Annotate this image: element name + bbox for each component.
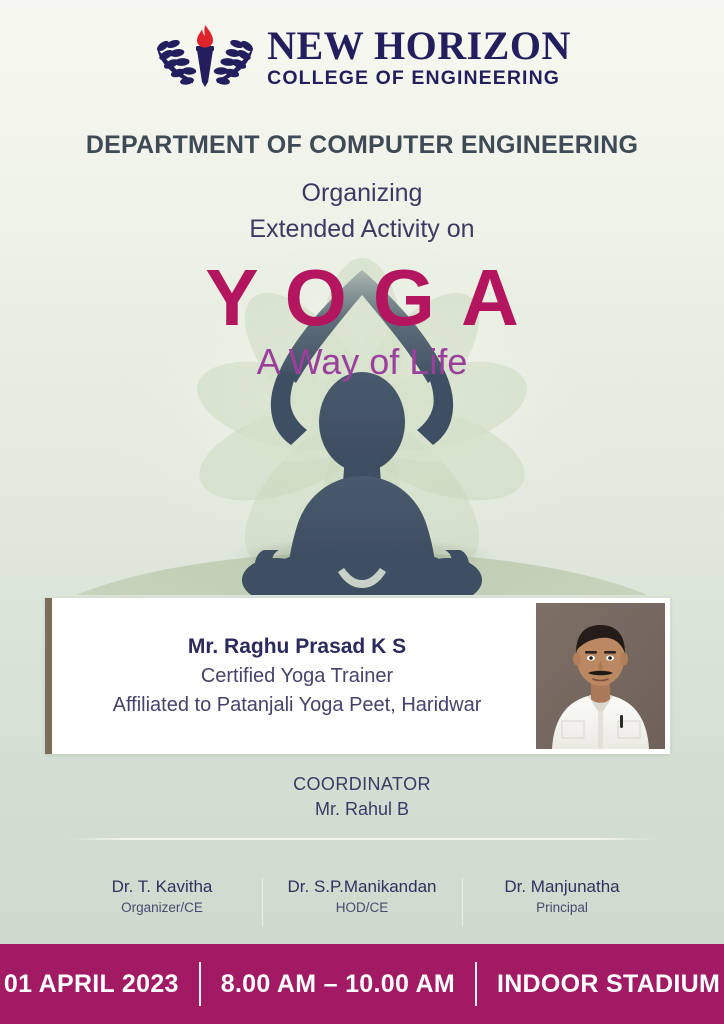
signatory-name: Dr. Manjunatha [468,876,656,899]
event-details-footer: 01 APRIL 2023 8.00 AM – 10.00 AM INDOOR … [0,944,724,1024]
speaker-affiliation: Affiliated to Patanjali Yoga Peet, Harid… [113,691,482,720]
speaker-name: Mr. Raghu Prasad K S [188,632,406,662]
logo-wordmark: NEW HORIZON COLLEGE OF ENGINEERING [267,26,571,89]
logo-line1: NEW HORIZON [267,26,571,66]
signatory-name: Dr. S.P.Manikandan [268,876,456,899]
signatory-role: HOD/CE [268,899,456,917]
department-title: DEPARTMENT OF COMPUTER ENGINEERING [0,131,724,160]
event-title: YOGA [0,258,724,338]
organizing-line2: Extended Activity on [0,212,724,248]
event-poster: NEW HORIZON COLLEGE OF ENGINEERING DEPAR… [0,0,724,1024]
speaker-card: Mr. Raghu Prasad K S Certified Yoga Trai… [45,598,670,754]
event-time: 8.00 AM – 10.00 AM [201,970,475,999]
coordinator-label: COORDINATOR [0,772,724,797]
signatory-organizer: Dr. T. Kavitha Organizer/CE [62,876,262,917]
signatory-principal: Dr. Manjunatha Principal [462,876,662,917]
signatory-hod: Dr. S.P.Manikandan HOD/CE [262,876,462,917]
section-divider [68,838,656,840]
signatory-role: Organizer/CE [68,899,256,917]
coordinator-block: COORDINATOR Mr. Rahul B [0,772,724,822]
torch-laurel-icon [153,24,257,90]
signatory-role: Principal [468,899,656,917]
event-date: 01 APRIL 2023 [0,970,199,999]
event-venue: INDOOR STADIUM [477,970,724,999]
footer-divider [475,962,477,1006]
card-accent-bar [45,598,52,754]
college-logo: NEW HORIZON COLLEGE OF ENGINEERING [0,24,724,90]
logo-line2: COLLEGE OF ENGINEERING [267,69,560,89]
footer-divider [199,962,201,1006]
signatories-row: Dr. T. Kavitha Organizer/CE Dr. S.P.Mani… [62,876,662,917]
coordinator-name: Mr. Rahul B [0,797,724,822]
organizing-text: Organizing Extended Activity on [0,176,724,247]
speaker-details: Mr. Raghu Prasad K S Certified Yoga Trai… [52,598,536,754]
speaker-photo [536,603,665,749]
event-tagline: A Way of Life [0,344,724,380]
organizing-line1: Organizing [0,176,724,212]
signatory-name: Dr. T. Kavitha [68,876,256,899]
speaker-role: Certified Yoga Trainer [201,662,393,691]
